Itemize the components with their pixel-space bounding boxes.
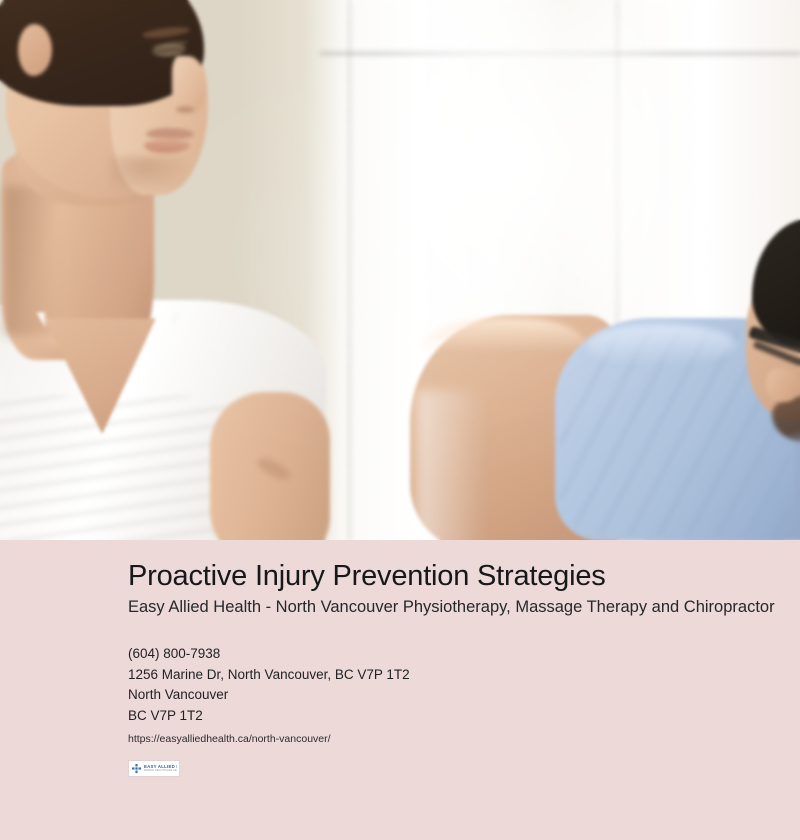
phone-number[interactable]: (604) 800-7938: [128, 644, 800, 665]
patient-chin-shadow: [110, 156, 196, 196]
logo-tagline: MOBILE HEALTHCARE SERVICES: [144, 770, 177, 773]
contact-block: (604) 800-7938 1256 Marine Dr, North Van…: [128, 618, 800, 748]
info-content: Proactive Injury Prevention Strategies E…: [128, 540, 800, 777]
therapist-shoulder-highlight: [586, 324, 736, 366]
brand-logo-badge[interactable]: EASY ALLIED HEALTH MOBILE HEALTHCARE SER…: [128, 760, 180, 777]
page-title: Proactive Injury Prevention Strategies: [128, 540, 800, 591]
marketing-card: Proactive Injury Prevention Strategies E…: [0, 0, 800, 840]
info-panel: Proactive Injury Prevention Strategies E…: [0, 540, 800, 840]
city-name: North Vancouver: [128, 685, 800, 706]
therapist-nose: [766, 368, 800, 402]
therapist-figure: [400, 200, 800, 540]
therapist-arm-shadow: [416, 390, 486, 540]
patient-upper-lip: [146, 128, 194, 139]
website-link[interactable]: https://easyalliedhealth.ca/north-vancou…: [128, 726, 800, 748]
street-address: 1256 Marine Dr, North Vancouver, BC V7P …: [128, 665, 800, 686]
patient-nostril: [176, 106, 194, 113]
logo-text-wrap: EASY ALLIED HEALTH MOBILE HEALTHCARE SER…: [144, 765, 177, 772]
hero-photo: [0, 0, 800, 540]
patient-figure: [0, 0, 380, 540]
patient-nose: [172, 56, 206, 114]
business-name-subtitle: Easy Allied Health - North Vancouver Phy…: [128, 591, 800, 618]
medical-cross-icon: [131, 763, 142, 774]
region-postal-code: BC V7P 1T2: [128, 706, 800, 727]
